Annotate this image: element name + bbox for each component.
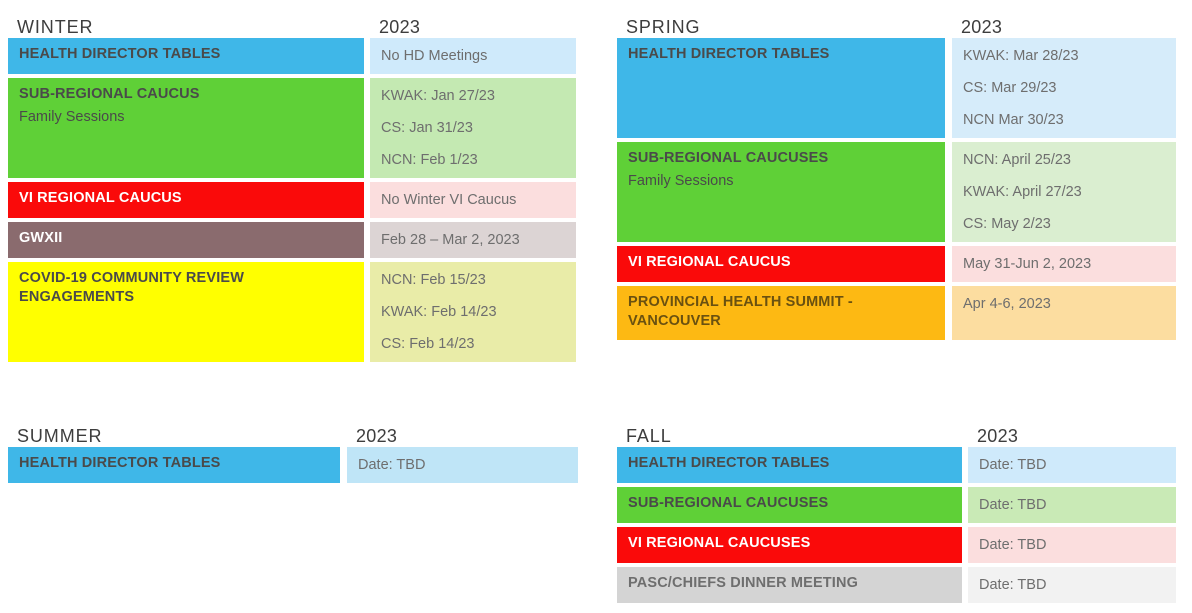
event-title: HEALTH DIRECTOR TABLES xyxy=(19,454,330,473)
column-gutter xyxy=(340,447,347,483)
season-header-spring: SPRING 2023 xyxy=(617,4,1176,38)
event-title: HEALTH DIRECTOR TABLES xyxy=(628,45,935,64)
event-title: PROVINCIAL HEALTH SUMMIT - VANCOUVER xyxy=(628,293,935,331)
event-title: HEALTH DIRECTOR TABLES xyxy=(628,454,952,473)
event-date: NCN Mar 30/23 xyxy=(963,109,1166,131)
event-label-cell: VI REGIONAL CAUCUSES xyxy=(617,527,962,563)
event-title: VI REGIONAL CAUCUSES xyxy=(628,534,952,553)
schedule-row: VI REGIONAL CAUCUSESDate: TBD xyxy=(617,527,1176,563)
event-date: NCN: Feb 15/23 xyxy=(381,269,566,291)
event-date: NCN: April 25/23 xyxy=(963,149,1166,171)
event-date: Date: TBD xyxy=(979,574,1166,596)
event-date: CS: Jan 31/23 xyxy=(381,117,566,139)
event-title: COVID-19 COMMUNITY REVIEW ENGAGEMENTS xyxy=(19,269,354,307)
event-date-cell: Date: TBD xyxy=(968,487,1176,523)
event-label-cell: COVID-19 COMMUNITY REVIEW ENGAGEMENTS xyxy=(8,262,364,362)
schedule-row: VI REGIONAL CAUCUSMay 31-Jun 2, 2023 xyxy=(617,246,1176,282)
event-title: VI REGIONAL CAUCUS xyxy=(19,189,354,208)
event-label-cell: VI REGIONAL CAUCUS xyxy=(617,246,945,282)
schedule-row: SUB-REGIONAL CAUCUSESDate: TBD xyxy=(617,487,1176,523)
event-title: HEALTH DIRECTOR TABLES xyxy=(19,45,354,64)
event-date: Date: TBD xyxy=(979,454,1166,476)
column-gutter xyxy=(945,286,952,340)
event-title: SUB-REGIONAL CAUCUSES xyxy=(628,149,935,168)
season-panel-spring: SPRING 2023 HEALTH DIRECTOR TABLESKWAK: … xyxy=(617,4,1176,340)
event-label-cell: PASC/CHIEFS DINNER MEETING xyxy=(617,567,962,603)
event-date-cell: Date: TBD xyxy=(968,527,1176,563)
event-date: KWAK: Jan 27/23 xyxy=(381,85,566,107)
event-date: May 31-Jun 2, 2023 xyxy=(963,253,1166,275)
schedule-row: HEALTH DIRECTOR TABLESKWAK: Mar 28/23CS:… xyxy=(617,38,1176,138)
schedule-row: HEALTH DIRECTOR TABLESDate: TBD xyxy=(617,447,1176,483)
event-date-cell: Date: TBD xyxy=(968,567,1176,603)
column-gutter xyxy=(945,142,952,242)
event-date-cell: NCN: April 25/23KWAK: April 27/23CS: May… xyxy=(952,142,1176,242)
event-date-cell: May 31-Jun 2, 2023 xyxy=(952,246,1176,282)
season-year: 2023 xyxy=(977,426,1018,447)
event-date: Feb 28 – Mar 2, 2023 xyxy=(381,229,566,251)
event-title: GWXII xyxy=(19,229,354,248)
season-name: SUMMER xyxy=(8,426,356,447)
schedule-row: HEALTH DIRECTOR TABLESDate: TBD xyxy=(8,447,578,483)
event-subtitle: Family Sessions xyxy=(19,106,354,129)
event-label-cell: PROVINCIAL HEALTH SUMMIT - VANCOUVER xyxy=(617,286,945,340)
schedule-row: HEALTH DIRECTOR TABLESNo HD Meetings xyxy=(8,38,576,74)
event-label-cell: HEALTH DIRECTOR TABLES xyxy=(617,38,945,138)
event-label-cell: SUB-REGIONAL CAUCUSFamily Sessions xyxy=(8,78,364,178)
season-year: 2023 xyxy=(356,426,397,447)
event-date-cell: KWAK: Jan 27/23CS: Jan 31/23NCN: Feb 1/2… xyxy=(370,78,576,178)
schedule-row: SUB-REGIONAL CAUCUSFamily SessionsKWAK: … xyxy=(8,78,576,178)
event-date-cell: KWAK: Mar 28/23CS: Mar 29/23NCN Mar 30/2… xyxy=(952,38,1176,138)
row-list: HEALTH DIRECTOR TABLESNo HD MeetingsSUB-… xyxy=(8,38,576,362)
event-date: NCN: Feb 1/23 xyxy=(381,149,566,171)
column-gutter xyxy=(945,246,952,282)
schedule-row: VI REGIONAL CAUCUSNo Winter VI Caucus xyxy=(8,182,576,218)
event-date: No HD Meetings xyxy=(381,45,566,67)
event-date: KWAK: April 27/23 xyxy=(963,181,1166,203)
event-label-cell: VI REGIONAL CAUCUS xyxy=(8,182,364,218)
event-label-cell: HEALTH DIRECTOR TABLES xyxy=(8,447,340,483)
row-list: HEALTH DIRECTOR TABLESDate: TBD xyxy=(8,447,578,483)
event-title: SUB-REGIONAL CAUCUSES xyxy=(628,494,952,513)
event-label-cell: HEALTH DIRECTOR TABLES xyxy=(617,447,962,483)
event-date: CS: Mar 29/23 xyxy=(963,77,1166,99)
event-date: Date: TBD xyxy=(358,454,568,476)
season-header-summer: SUMMER 2023 xyxy=(8,413,578,447)
event-title: VI REGIONAL CAUCUS xyxy=(628,253,935,272)
season-year: 2023 xyxy=(961,17,1002,38)
event-date-cell: Date: TBD xyxy=(968,447,1176,483)
event-date-cell: Feb 28 – Mar 2, 2023 xyxy=(370,222,576,258)
event-date-cell: Date: TBD xyxy=(347,447,578,483)
event-date: KWAK: Feb 14/23 xyxy=(381,301,566,323)
event-label-cell: HEALTH DIRECTOR TABLES xyxy=(8,38,364,74)
row-list: HEALTH DIRECTOR TABLESKWAK: Mar 28/23CS:… xyxy=(617,38,1176,340)
season-name: FALL xyxy=(617,426,977,447)
event-date-cell: NCN: Feb 15/23KWAK: Feb 14/23CS: Feb 14/… xyxy=(370,262,576,362)
event-date: Apr 4-6, 2023 xyxy=(963,293,1166,315)
event-subtitle: Family Sessions xyxy=(628,170,935,193)
event-label-cell: SUB-REGIONAL CAUCUSESFamily Sessions xyxy=(617,142,945,242)
event-date-cell: No Winter VI Caucus xyxy=(370,182,576,218)
schedule-row: GWXIIFeb 28 – Mar 2, 2023 xyxy=(8,222,576,258)
event-title: SUB-REGIONAL CAUCUS xyxy=(19,85,354,104)
season-year: 2023 xyxy=(379,17,420,38)
season-panel-summer: SUMMER 2023 HEALTH DIRECTOR TABLESDate: … xyxy=(8,413,578,483)
schedule-row: PROVINCIAL HEALTH SUMMIT - VANCOUVERApr … xyxy=(617,286,1176,340)
schedule-row: PASC/CHIEFS DINNER MEETINGDate: TBD xyxy=(617,567,1176,603)
event-date: Date: TBD xyxy=(979,534,1166,556)
schedule-row: SUB-REGIONAL CAUCUSESFamily SessionsNCN:… xyxy=(617,142,1176,242)
schedule-row: COVID-19 COMMUNITY REVIEW ENGAGEMENTSNCN… xyxy=(8,262,576,362)
event-date-cell: No HD Meetings xyxy=(370,38,576,74)
event-date: CS: May 2/23 xyxy=(963,213,1166,235)
column-gutter xyxy=(945,38,952,138)
event-date-cell: Apr 4-6, 2023 xyxy=(952,286,1176,340)
season-header-fall: FALL 2023 xyxy=(617,413,1176,447)
event-date: KWAK: Mar 28/23 xyxy=(963,45,1166,67)
row-list: HEALTH DIRECTOR TABLESDate: TBDSUB-REGIO… xyxy=(617,447,1176,603)
event-title: PASC/CHIEFS DINNER MEETING xyxy=(628,574,952,593)
season-panel-fall: FALL 2023 HEALTH DIRECTOR TABLESDate: TB… xyxy=(617,413,1176,603)
event-date: CS: Feb 14/23 xyxy=(381,333,566,355)
season-name: WINTER xyxy=(8,17,379,38)
event-label-cell: SUB-REGIONAL CAUCUSES xyxy=(617,487,962,523)
season-panel-winter: WINTER 2023 HEALTH DIRECTOR TABLESNo HD … xyxy=(8,4,576,362)
event-label-cell: GWXII xyxy=(8,222,364,258)
event-date: Date: TBD xyxy=(979,494,1166,516)
season-name: SPRING xyxy=(617,17,961,38)
event-date: No Winter VI Caucus xyxy=(381,189,566,211)
season-header-winter: WINTER 2023 xyxy=(8,4,576,38)
